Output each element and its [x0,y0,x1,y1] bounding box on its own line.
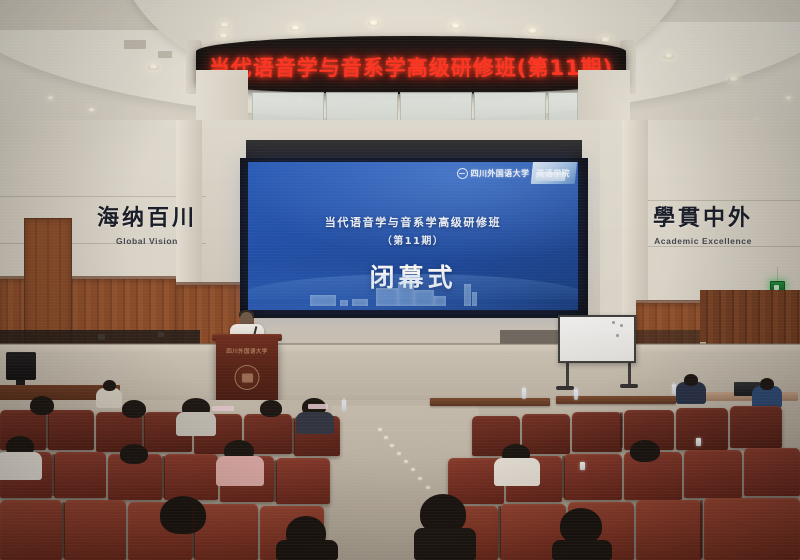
whiteboard-foot [556,386,574,390]
wall-calligraphy-right: 學貫中外 Academic Excellence [638,208,768,246]
seat [730,406,782,448]
skyline-building [376,288,398,306]
skyline-building [464,284,471,306]
ceiling-downlight [219,22,230,28]
audience-person-torso [414,528,476,560]
audience-person-head [630,440,660,462]
ceiling-downlight [88,108,95,112]
ceiling-downlight [450,23,461,29]
slide-skyline-graphic [248,276,578,310]
ceiling-downlight [663,53,674,59]
ceiling-downlight [290,25,301,31]
audience-person-head [560,508,602,544]
audience-person-head [160,496,206,534]
audience-person-head [760,378,774,390]
seat-divider [192,506,195,558]
handout-paper [212,406,234,411]
seat [744,448,800,496]
skyline-building [398,282,414,306]
ceiling-downlight [47,96,54,100]
aisle-step-marker [411,468,415,471]
seat-divider [142,414,145,450]
slide-logo-primary: 四川外国语大学 [471,168,530,179]
calligraphy-chinese-left: 海纳百川 [86,208,208,230]
seat [684,450,742,498]
wall-seam [628,200,800,201]
audience-person-torso [0,452,42,480]
slide-title: 当代语音学与音系学高级研修班 [248,214,578,230]
audience-person-torso [216,456,264,486]
seat-divider [274,460,277,502]
whiteboard-foot [620,384,638,388]
seat [0,500,62,560]
audience-person-torso [552,540,612,560]
ceiling-vent [158,51,172,58]
seat-divider [700,500,703,558]
seat [676,408,728,450]
seat [636,500,702,560]
aisle-step-marker [384,436,388,439]
calligraphy-english-right: Academic Excellence [638,236,768,246]
handout-paper [308,404,328,409]
slide-logo-secondary: 英语学院 [536,168,570,179]
wall-seam [628,246,800,247]
seat-divider [620,412,623,448]
stage-monitor [6,352,36,380]
whiteboard-magnet [612,321,615,324]
audience-person-head [684,374,698,386]
audience-person-torso [494,458,540,486]
whiteboard-leg [566,360,569,388]
audience-person-torso [296,412,334,434]
skyline-building [414,290,434,306]
ceiling-downlight [368,20,379,26]
seat [64,500,126,560]
slide-institution-logo: 四川外国语大学 英语学院 [457,168,570,179]
seat [276,458,330,504]
smartphone [580,462,585,470]
ceiling-downlight [785,96,792,100]
aisle-step-marker [404,460,408,463]
whiteboard-magnet [616,334,619,337]
smartphone [696,438,701,446]
seat-divider [162,456,165,498]
wall-calligraphy-left: 海纳百川 Global Vision [86,208,208,246]
audience-person-head [260,400,282,417]
podium-label: 四川外国语大学 [216,347,278,355]
ceiling-downlight [148,64,159,70]
audience-person-torso [176,412,216,436]
logo-divider [532,169,533,179]
seat-divider [562,456,565,498]
audience-person-head [30,396,54,415]
aisle-step-marker [390,444,394,447]
seat-divider [52,454,55,496]
seat [164,454,218,500]
university-emblem-icon [457,168,468,179]
skyline-building [340,300,348,306]
auditorium-photo: 当代语音学与音系学高级研修班(第11期) 海纳百川 Global Vision … [0,0,800,560]
audience-person-torso [276,540,338,560]
led-banner-text: 当代语音学与音系学高级研修班(第11期) [195,52,627,82]
seat-divider [62,502,65,558]
projection-screen: 四川外国语大学 英语学院 当代语音学与音系学高级研修班 （第11期） 闭幕式 [248,162,578,310]
water-bottle [342,400,346,411]
seat [522,414,570,454]
seat [572,412,622,452]
exit-sign-post-right [777,267,778,281]
water-bottle [574,389,578,400]
seat-divider [46,412,49,448]
ceiling-vent [124,40,146,49]
podium: 四川外国语大学 [216,338,278,406]
skyline-building [310,295,336,306]
ceiling-downlight [527,28,538,34]
seat [564,454,622,500]
audience-person-torso [96,388,122,408]
ceiling-downlight [728,76,739,82]
slide-subtitle: （第11期） [248,232,578,247]
aisle-step-marker [397,452,401,455]
skyline-building [352,299,368,306]
podium-emblem-icon [235,365,260,390]
audience-desk [430,398,550,406]
skyline-building [434,296,446,306]
seat [54,452,106,498]
seat-divider [292,418,295,454]
calligraphy-chinese-right: 學貫中外 [638,208,768,230]
audience-person-head [103,380,116,391]
seat [48,410,94,450]
aisle-step-marker [426,486,430,489]
whiteboard [558,315,636,363]
aisle-step-marker [418,477,422,480]
skyline-building [472,292,477,306]
aisle-step-marker [378,428,382,431]
seat [704,498,800,560]
water-bottle [522,388,526,399]
stage-edge [0,343,800,345]
led-banner: 当代语音学与音系学高级研修班(第11期) [196,36,626,94]
calligraphy-english-left: Global Vision [86,236,208,246]
seat-divider [498,506,501,558]
whiteboard-magnet [620,324,623,327]
